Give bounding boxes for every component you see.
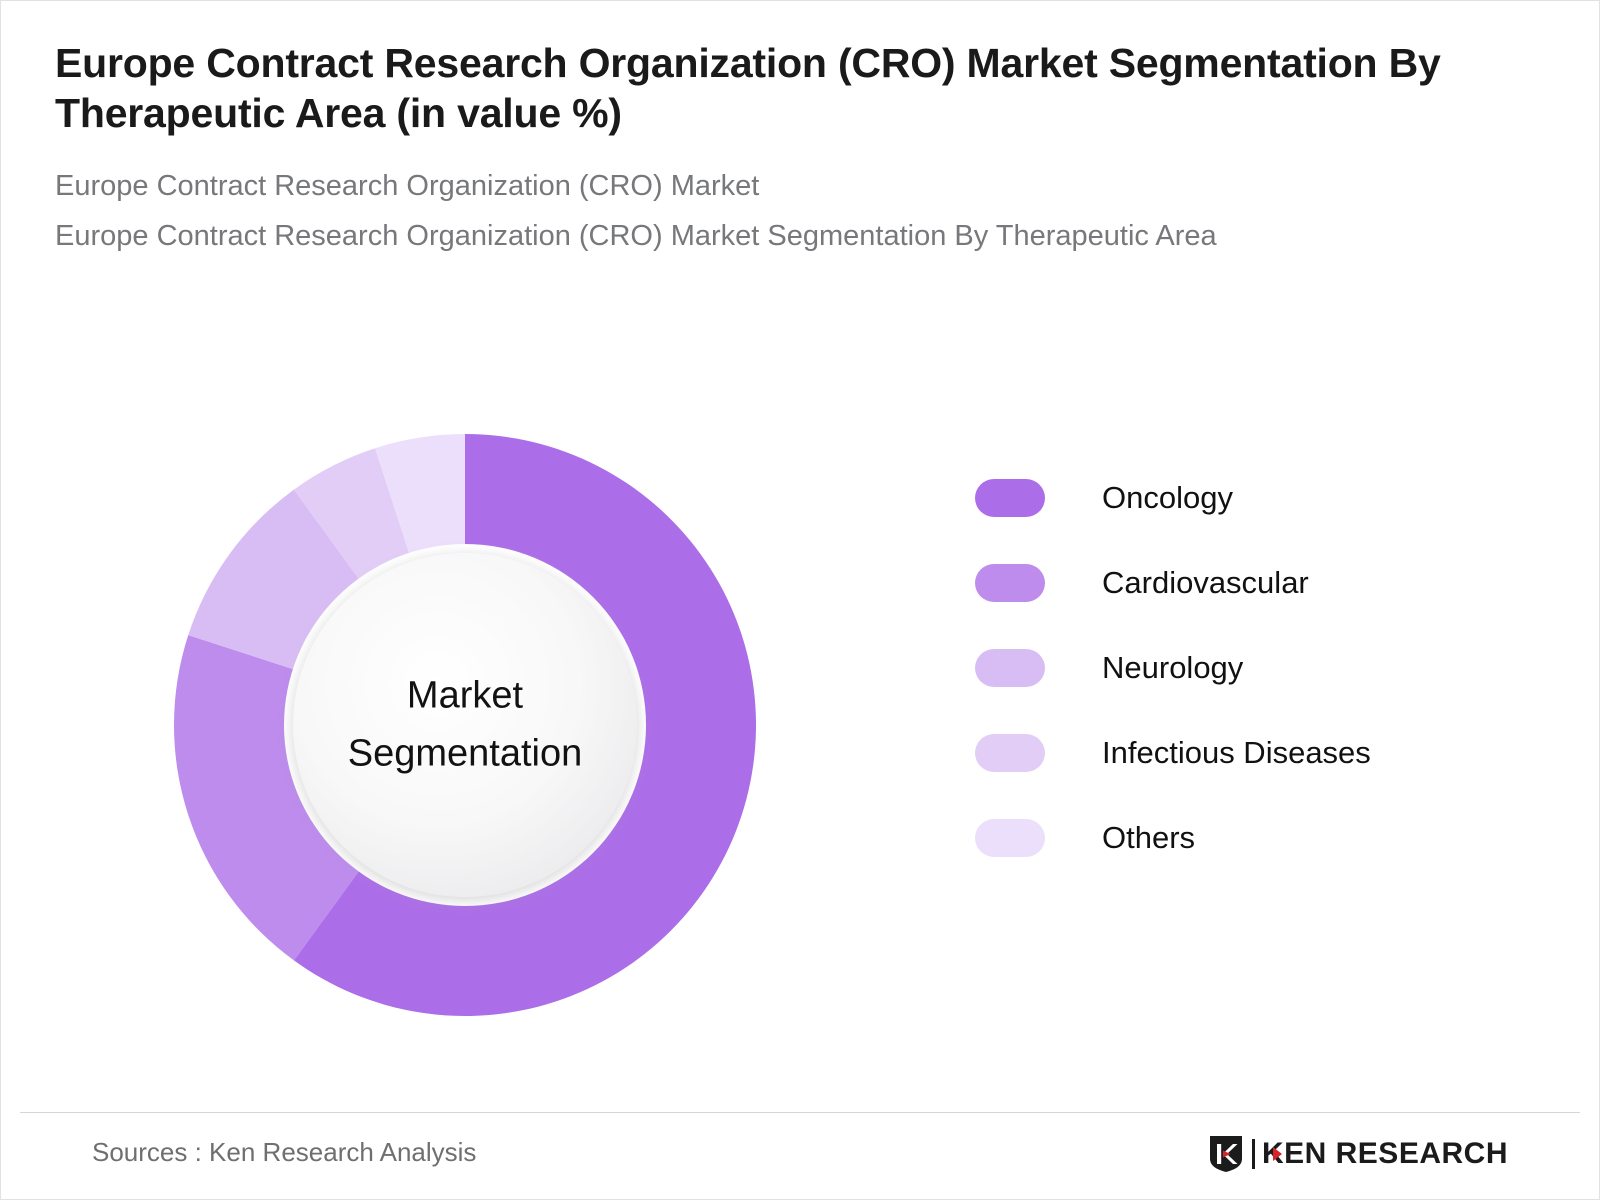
legend-swatch — [975, 564, 1045, 602]
legend-item[interactable]: Others — [975, 795, 1535, 880]
logo-red-triangle-icon — [1273, 1147, 1282, 1161]
legend-swatch — [975, 649, 1045, 687]
chart-subtitle-line-1: Europe Contract Research Organization (C… — [55, 162, 1455, 212]
legend-swatch — [975, 819, 1045, 857]
legend-item[interactable]: Infectious Diseases — [975, 710, 1535, 795]
chart-subtitle: Europe Contract Research Organization (C… — [55, 138, 1455, 262]
shield-k-logo-icon — [1209, 1135, 1243, 1173]
logo-wordmark-rest: EN RESEARCH — [1284, 1137, 1508, 1170]
legend-item[interactable]: Neurology — [975, 625, 1535, 710]
logo-separator-bar — [1252, 1139, 1255, 1169]
chart-title: Europe Contract Research Organization (C… — [55, 38, 1455, 138]
chart-header: Europe Contract Research Organization (C… — [55, 38, 1455, 262]
legend-swatch — [975, 479, 1045, 517]
legend-swatch — [975, 734, 1045, 772]
chart-legend: OncologyCardiovascularNeurologyInfectiou… — [975, 455, 1535, 880]
sources-note: Sources : Ken Research Analysis — [92, 1137, 476, 1168]
logo-wordmark: KEN RESEARCH — [1262, 1139, 1508, 1169]
ken-research-logo: KEN RESEARCH — [1209, 1133, 1508, 1175]
legend-item[interactable]: Oncology — [975, 455, 1535, 540]
donut-hole — [293, 553, 637, 897]
legend-item-label: Cardiovascular — [1102, 565, 1309, 601]
legend-item-label: Infectious Diseases — [1102, 735, 1371, 771]
donut-chart: Market Segmentation — [172, 432, 758, 1018]
legend-item-label: Neurology — [1102, 650, 1243, 686]
legend-item-label: Others — [1102, 820, 1195, 856]
donut-svg — [172, 432, 758, 1018]
chart-footer: Sources : Ken Research Analysis KEN RESE… — [0, 1113, 1600, 1199]
chart-page: Europe Contract Research Organization (C… — [0, 0, 1600, 1200]
chart-subtitle-line-2: Europe Contract Research Organization (C… — [55, 212, 1455, 262]
chart-area: Market Segmentation OncologyCardiovascul… — [0, 400, 1600, 1080]
legend-item-label: Oncology — [1102, 480, 1233, 516]
legend-item[interactable]: Cardiovascular — [975, 540, 1535, 625]
